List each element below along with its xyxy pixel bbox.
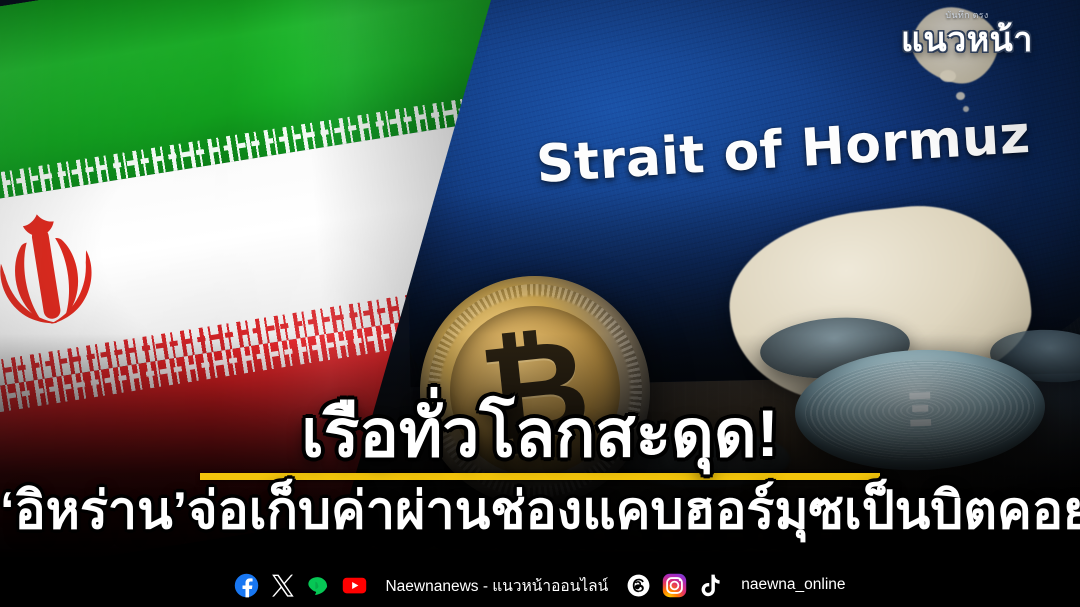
headline-line-1: เรือทั่วโลกสะดุด! — [0, 400, 1080, 467]
tiktok-icon[interactable] — [698, 573, 723, 598]
threads-icon[interactable] — [626, 573, 651, 598]
island-dot — [956, 92, 965, 100]
social-bar: Naewnanews - แนวหน้าออนไลน์ naewn — [0, 563, 1080, 607]
headline-line-2: ‘อิหร่าน’จ่อเก็บค่าผ่านช่องแคบฮอร์มุซเป็… — [0, 484, 1080, 539]
facebook-icon[interactable] — [234, 573, 259, 598]
island-dot — [940, 70, 956, 82]
x-twitter-icon[interactable] — [270, 573, 295, 598]
left-social-handle: Naewnanews - แนวหน้าออนไลน์ — [385, 573, 608, 598]
news-thumbnail-card: Strait of Hormuz — [0, 0, 1080, 607]
logo-superscript: บันทึก ตรง — [872, 8, 1062, 22]
logo-wordmark: แนวหน้า — [872, 23, 1062, 57]
headline-block: เรือทั่วโลกสะดุด! ‘อิหร่าน’จ่อเก็บค่าผ่า… — [0, 400, 1080, 539]
right-social-handle: naewna_online — [741, 576, 845, 594]
instagram-icon[interactable] — [662, 573, 687, 598]
youtube-icon[interactable] — [342, 573, 367, 598]
naewna-logo[interactable]: บันทึก ตรง แนวหน้า — [872, 8, 1062, 57]
line-icon[interactable] — [306, 573, 331, 598]
headline-divider-rule — [200, 473, 880, 480]
